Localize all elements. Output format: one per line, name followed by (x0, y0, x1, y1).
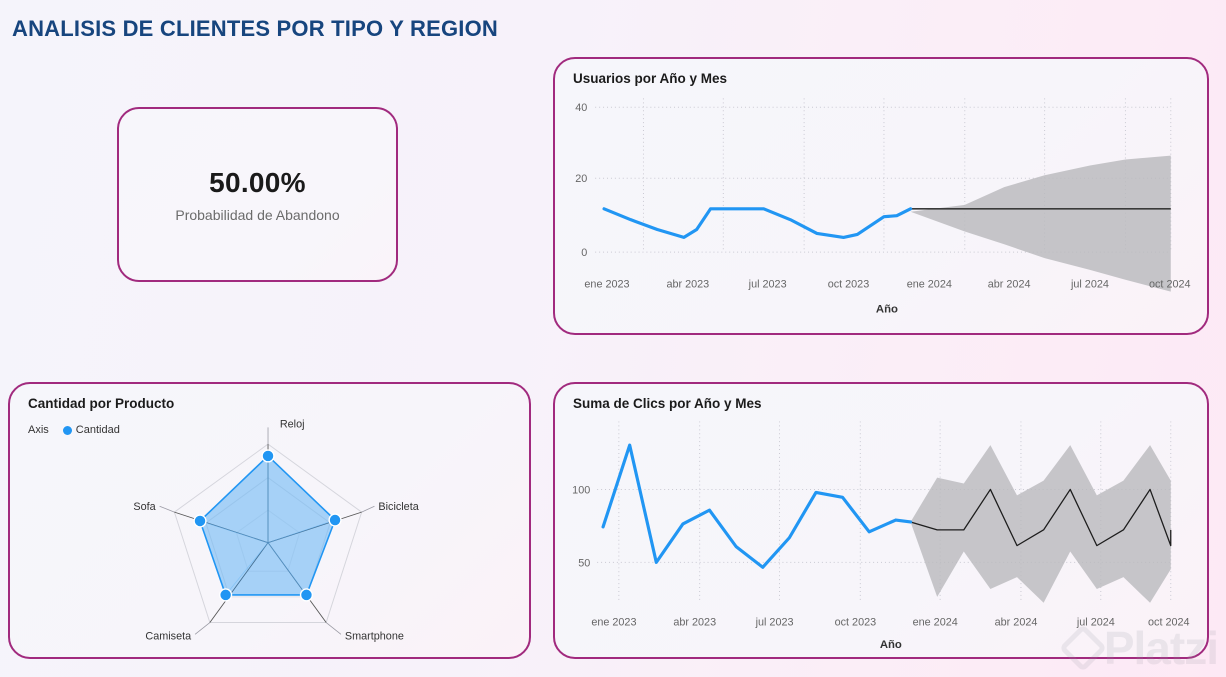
x-tick-5: abr 2024 (988, 279, 1031, 291)
x-tick-0: ene 2023 (591, 616, 636, 628)
y-tick-40: 40 (575, 102, 587, 114)
x-tick-0: ene 2023 (584, 279, 629, 291)
x-tick-1: abr 2023 (666, 279, 709, 291)
kpi-label: Probabilidad de Abandono (175, 207, 339, 223)
x-axis-ticks: ene 2023 abr 2023 jul 2023 oct 2023 ene … (584, 279, 1190, 291)
radar-label-reloj: Reloj (280, 418, 305, 430)
series-line-clics (603, 445, 910, 567)
radar-label-smartphone: Smartphone (345, 630, 404, 642)
clics-line-chart[interactable]: 100 50 ene 2023 abr 2023 jul 2023 oct 20… (555, 384, 1207, 657)
radar-point-reloj[interactable] (262, 450, 274, 462)
x-axis-title: Año (876, 303, 898, 315)
platzi-logo-icon (1059, 624, 1107, 672)
x-tick-1: abr 2023 (673, 616, 716, 628)
y-tick-100: 100 (572, 484, 590, 496)
cantidad-radar-chart[interactable]: Reloj Bicicleta Smartphone Camiseta Sofa (10, 384, 529, 657)
forecast-confidence-band (911, 156, 1171, 292)
radar-series-area-cantidad (200, 456, 335, 595)
kpi-card-probabilidad-abandono[interactable]: 50.00% Probabilidad de Abandono (117, 107, 398, 282)
radar-label-sofa: Sofa (133, 501, 156, 513)
y-tick-50: 50 (578, 557, 590, 569)
radar-label-camiseta: Camiseta (145, 630, 192, 642)
x-tick-4: ene 2024 (913, 616, 958, 628)
chart-card-cantidad-producto[interactable]: Cantidad por Producto Axis Cantidad (8, 382, 531, 659)
chart-card-clics[interactable]: Suma de Clics por Año y Mes 100 50 ene (553, 382, 1209, 659)
usuarios-line-chart[interactable]: 40 20 0 ene 2023 abr 2023 jul 2023 oct 2… (555, 59, 1207, 333)
kpi-value: 50.00% (209, 167, 306, 199)
x-tick-6: jul 2024 (1070, 279, 1109, 291)
series-line-usuarios (604, 209, 911, 238)
x-tick-3: oct 2023 (828, 279, 870, 291)
radar-point-bicicleta[interactable] (329, 514, 341, 526)
radar-point-sofa[interactable] (194, 515, 206, 527)
radar-point-camiseta[interactable] (220, 589, 232, 601)
y-tick-20: 20 (575, 173, 587, 185)
forecast-confidence-band (911, 445, 1171, 603)
x-axis-title: Año (880, 639, 902, 651)
x-tick-2: jul 2023 (755, 616, 794, 628)
x-tick-7: oct 2024 (1149, 279, 1191, 291)
platzi-watermark: Platzi (1066, 621, 1218, 675)
y-axis-ticks: 40 20 0 (575, 102, 587, 259)
chart-card-usuarios[interactable]: Usuarios por Año y Mes 40 20 0 (553, 57, 1209, 335)
y-tick-0: 0 (581, 247, 587, 259)
x-tick-5: abr 2024 (995, 616, 1038, 628)
x-tick-2: jul 2023 (748, 279, 787, 291)
x-tick-4: ene 2024 (907, 279, 952, 291)
radar-label-bicicleta: Bicicleta (378, 501, 419, 513)
x-tick-3: oct 2023 (835, 616, 877, 628)
radar-point-smartphone[interactable] (301, 589, 313, 601)
y-axis-ticks: 100 50 (572, 484, 590, 569)
page-title: ANALISIS DE CLIENTES POR TIPO Y REGION (12, 16, 498, 42)
watermark-text: Platzi (1104, 621, 1218, 675)
